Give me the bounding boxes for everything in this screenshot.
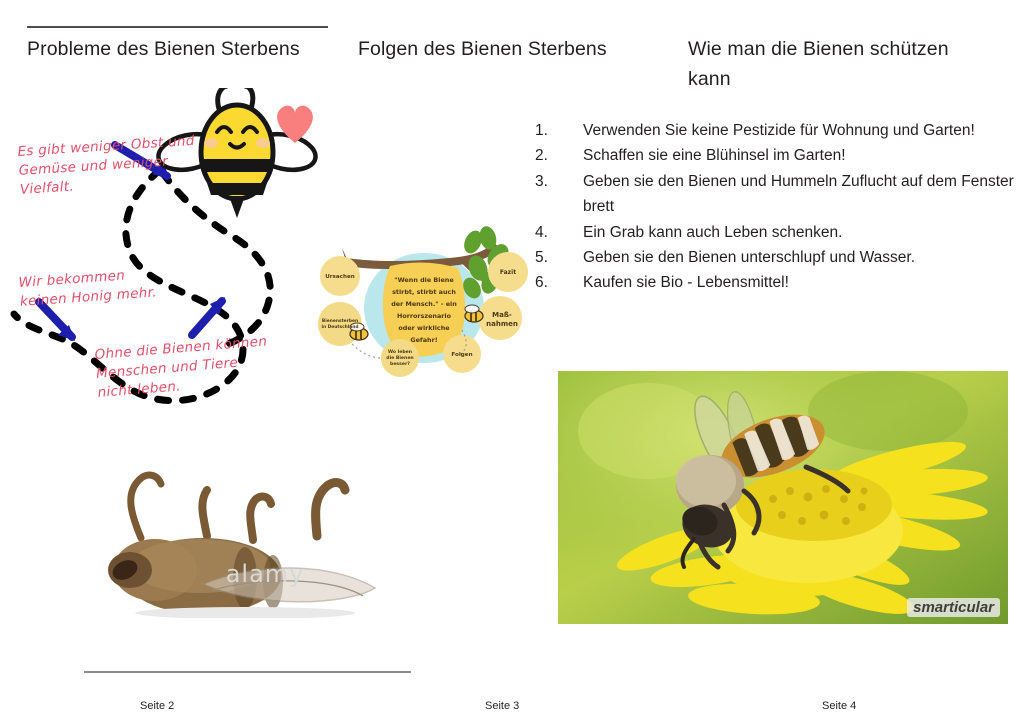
list-item-text: Geben sie den Bienen unterschlupf und Wa…: [583, 245, 1015, 270]
list-item-number: 3.: [535, 169, 583, 220]
bottom-divider-rule: [84, 671, 411, 673]
dead-bee-illustration: [95, 466, 439, 618]
mindmap-diagram: Ursachen Bienensterben in Deutschland Wo…: [312, 226, 542, 386]
list-item-text: Verwenden Sie keine Pestizide für Wohnun…: [583, 118, 1015, 143]
page-title-protection: Wie man die Bienen schützen kann: [688, 34, 988, 94]
svg-text:besser?: besser?: [390, 361, 410, 367]
page-title-problems: Probleme des Bienen Sterbens: [27, 34, 337, 64]
photo-bee-on-flower: smarticular: [558, 371, 1008, 624]
list-item-text: Ein Grab kann auch Leben schenken.: [583, 220, 1015, 245]
list-item-text: Schaffen sie eine Blühinsel im Garten!: [583, 143, 1015, 168]
page-label-seite-3: Seite 3: [485, 700, 519, 712]
protection-tips-list: 1. Verwenden Sie keine Pestizide für Woh…: [535, 118, 1015, 296]
svg-text:Maß-: Maß-: [492, 311, 512, 319]
photo-watermark: alamy: [226, 560, 305, 588]
svg-text:stirbt, stirbt auch: stirbt, stirbt auch: [392, 288, 456, 296]
bee-flower-illustration: [558, 371, 1008, 624]
annotation-fruit-vegetables: Es gibt weniger Obst und Gemüse und weni…: [17, 131, 205, 200]
list-item: 1. Verwenden Sie keine Pestizide für Woh…: [535, 118, 1015, 143]
svg-text:oder wirkliche: oder wirkliche: [398, 324, 450, 332]
list-item: 4. Ein Grab kann auch Leben schenken.: [535, 220, 1015, 245]
svg-text:"Wenn die Biene: "Wenn die Biene: [394, 276, 454, 284]
list-item-number: 1.: [535, 118, 583, 143]
handout-page: Probleme des Bienen Sterbens Folgen des …: [0, 0, 1024, 724]
list-item: 6. Kaufen sie Bio - Lebensmittel!: [535, 270, 1015, 295]
svg-text:der Mensch." - ein: der Mensch." - ein: [391, 300, 457, 308]
list-item: 3. Geben sie den Bienen und Hummeln Zufl…: [535, 169, 1015, 220]
top-divider-rule: [27, 26, 328, 28]
page-label-seite-4: Seite 4: [822, 700, 856, 712]
svg-text:die Bienen: die Bienen: [386, 355, 413, 361]
list-item-number: 2.: [535, 143, 583, 168]
svg-text:Folgen: Folgen: [451, 352, 472, 358]
photo-dead-bee: alamy: [95, 466, 439, 618]
svg-text:in Deutschland: in Deutschland: [321, 324, 358, 330]
svg-text:Wo leben: Wo leben: [388, 349, 412, 355]
list-item: 5. Geben sie den Bienen unterschlupf und…: [535, 245, 1015, 270]
bee-doodle-area: Es gibt weniger Obst und Gemüse und weni…: [0, 88, 345, 428]
list-item-number: 6.: [535, 270, 583, 295]
bubble-label-ursachen: Ursachen: [325, 274, 354, 280]
svg-text:Fazit: Fazit: [500, 269, 516, 276]
list-item-number: 5.: [535, 245, 583, 270]
svg-text:Bienensterben: Bienensterben: [322, 318, 358, 324]
page-title-consequences: Folgen des Bienen Sterbens: [358, 34, 658, 64]
svg-text:Gefahr!: Gefahr!: [410, 336, 437, 344]
page-label-seite-2: Seite 2: [140, 700, 174, 712]
list-item-number: 4.: [535, 220, 583, 245]
photo-watermark: smarticular: [907, 598, 1000, 617]
svg-text:nahmen: nahmen: [486, 320, 518, 328]
list-item: 2. Schaffen sie eine Blühinsel im Garten…: [535, 143, 1015, 168]
list-item-text: Kaufen sie Bio - Lebensmittel!: [583, 270, 1015, 295]
list-item-text: Geben sie den Bienen und Hummeln Zufluch…: [583, 169, 1015, 220]
svg-text:Horrorszenario: Horrorszenario: [397, 312, 452, 320]
